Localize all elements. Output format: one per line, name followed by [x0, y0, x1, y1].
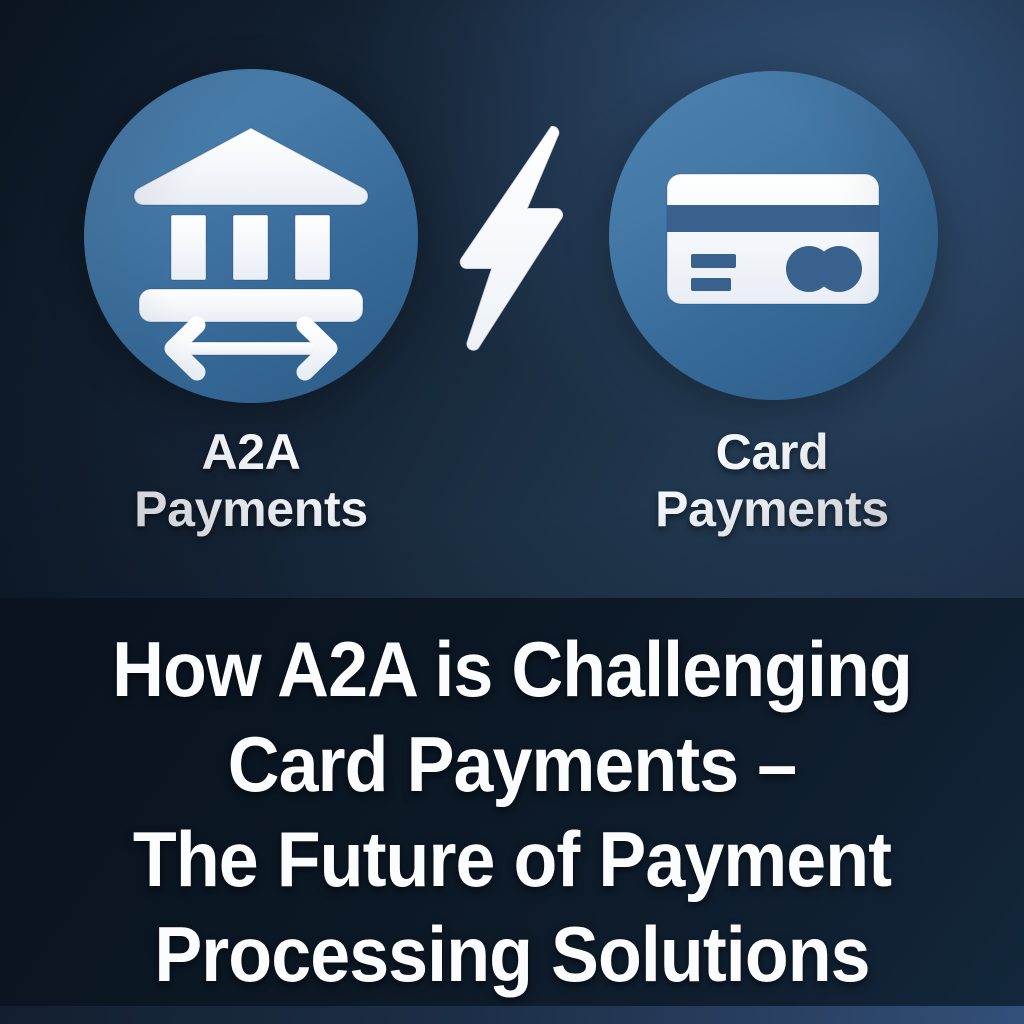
page-title-line-3: The Future of Payment — [78, 812, 946, 907]
credit-card-icon — [609, 71, 938, 400]
page-title-line-4: Processing Solutions — [78, 907, 946, 1002]
page-title-line-1: How A2A is Challenging — [78, 622, 946, 717]
page-title-line-2: Card Payments – — [78, 717, 946, 812]
bank-building-exchange-icon — [84, 69, 418, 403]
poster-canvas: A2A Payments Card Payments How A2A is Ch… — [0, 0, 1024, 1024]
a2a-label-line1: A2A — [201, 424, 300, 480]
card-payments-icon-badge — [609, 71, 938, 400]
a2a-payments-icon-badge — [84, 69, 418, 403]
card-payments-label: Card Payments — [582, 424, 962, 538]
title-panel: How A2A is Challenging Card Payments – T… — [0, 598, 1024, 1006]
page-title: How A2A is Challenging Card Payments – T… — [78, 622, 946, 1002]
bottom-accent-strip — [0, 1006, 1024, 1024]
lightning-bolt-icon — [441, 122, 587, 354]
a2a-payments-label: A2A Payments — [61, 424, 441, 538]
hero-panel: A2A Payments Card Payments — [0, 0, 1024, 598]
card-label-line1: Card — [716, 424, 829, 480]
card-label-line2: Payments — [582, 481, 962, 538]
a2a-label-line2: Payments — [61, 481, 441, 538]
